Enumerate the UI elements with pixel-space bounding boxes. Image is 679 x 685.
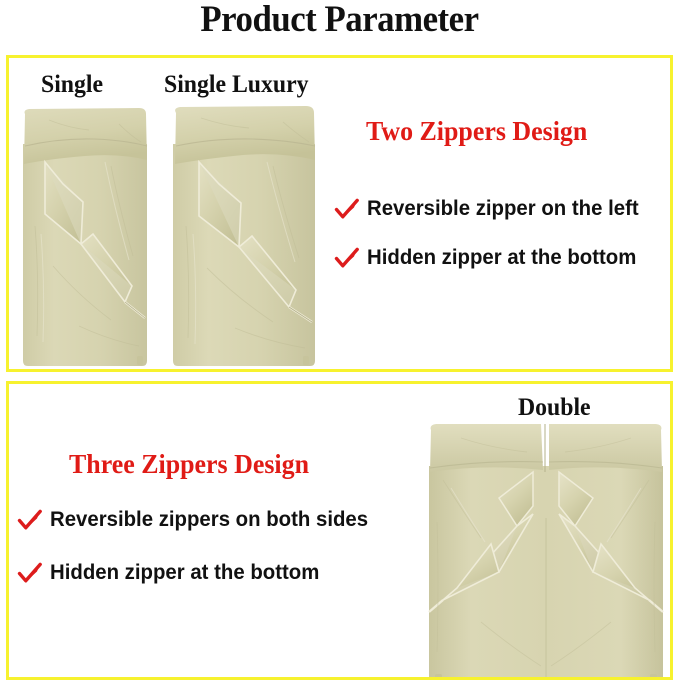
feature-label: Reversible zippers on both sides	[50, 508, 368, 532]
check-icon	[17, 562, 43, 584]
feature-row: Hidden zipper at the bottom	[334, 246, 645, 270]
product-label-single-luxury: Single Luxury	[164, 71, 309, 99]
check-icon	[334, 247, 360, 269]
page-title: Product Parameter	[20, 0, 658, 41]
panel-three-zippers: Double Three Zippers Design Reversible z…	[6, 381, 673, 680]
feature-label: Hidden zipper at the bottom	[367, 246, 636, 270]
sleeping-bag-liner-single-image	[19, 106, 153, 370]
feature-row: Reversible zipper on the left	[334, 197, 647, 221]
feature-label: Hidden zipper at the bottom	[50, 561, 319, 585]
sleeping-bag-liner-single-luxury-image	[169, 104, 321, 370]
product-label-single: Single	[41, 71, 103, 99]
feature-row: Hidden zipper at the bottom	[17, 561, 328, 585]
check-icon	[17, 509, 43, 531]
heading-two-zippers-design: Two Zippers Design	[366, 116, 587, 147]
feature-label: Reversible zipper on the left	[367, 197, 639, 221]
feature-row: Reversible zippers on both sides	[17, 508, 378, 532]
heading-three-zippers-design: Three Zippers Design	[69, 449, 309, 480]
infographic-root: Product Parameter	[0, 0, 679, 685]
check-icon	[334, 198, 360, 220]
panel-two-zippers: Single Single Luxury Two Zippers Design …	[6, 55, 673, 372]
product-label-double: Double	[518, 394, 591, 422]
sleeping-bag-liner-double-image	[421, 422, 671, 680]
